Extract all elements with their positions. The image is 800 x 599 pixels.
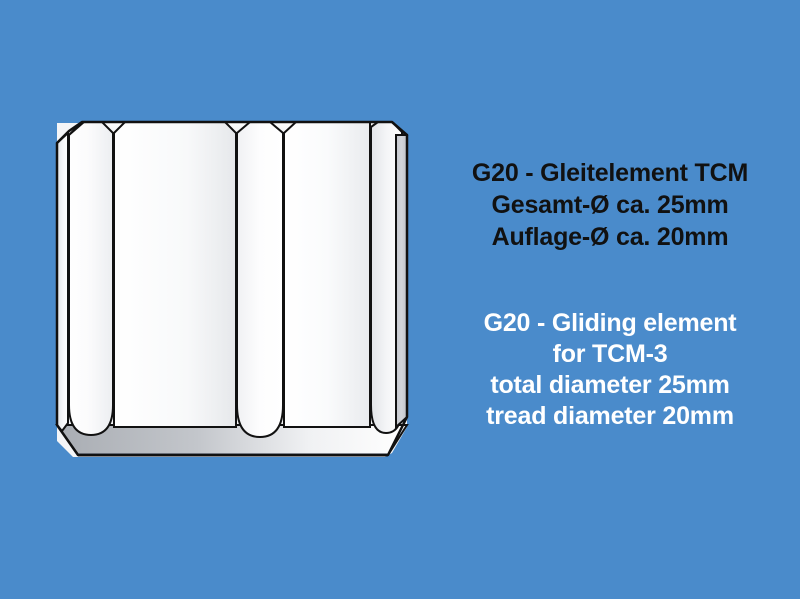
gliding-element-svg <box>40 105 410 480</box>
base-chamfer <box>57 425 407 455</box>
english-spec-line-1: G20 - Gliding element <box>420 308 800 339</box>
german-spec-line-2: Gesamt-Ø ca. 25mm <box>420 189 800 221</box>
german-spec-line-3: Auflage-Ø ca. 20mm <box>420 221 800 253</box>
flute-shadow-face-7 <box>396 135 407 427</box>
flute-rib-4 <box>237 122 283 437</box>
flute-panel-3 <box>114 122 236 427</box>
english-spec-line-3: total diameter 25mm <box>420 370 800 401</box>
german-spec-line-1: G20 - Gleitelement TCM <box>420 157 800 189</box>
product-illustration <box>40 105 410 480</box>
english-spec-line-2: for TCM-3 <box>420 339 800 370</box>
german-spec-text: G20 - Gleitelement TCM Gesamt-Ø ca. 25mm… <box>420 157 800 253</box>
flute-panel-1 <box>57 133 68 431</box>
english-spec-line-4: tread diameter 20mm <box>420 401 800 432</box>
flute-rib-2 <box>69 122 113 435</box>
flute-panel-5 <box>284 122 370 427</box>
english-spec-text: G20 - Gliding element for TCM-3 total di… <box>420 308 800 432</box>
screenshot-canvas: G20 - Gleitelement TCM Gesamt-Ø ca. 25mm… <box>0 0 800 599</box>
